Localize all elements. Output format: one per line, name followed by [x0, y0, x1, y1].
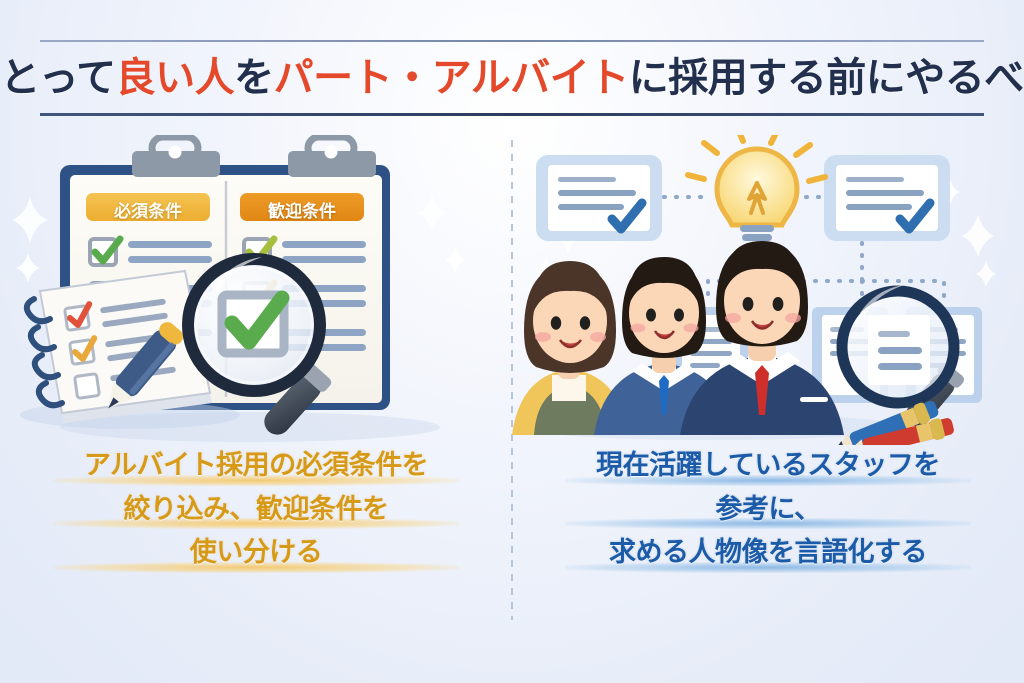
document-card-left	[536, 155, 662, 241]
clipboard-clip-left	[132, 137, 220, 177]
title-segment: 採用する	[668, 58, 826, 98]
tag-welcome-label: 歓迎条件	[240, 197, 364, 222]
staff-persona-illustration	[512, 135, 1024, 445]
title-segment: やるべきこと	[905, 58, 1024, 98]
clipboard-checklist-illustration: 必須条件 歓迎条件	[0, 135, 512, 445]
title-segment: パート・アルバイト	[274, 58, 629, 98]
title-segment: にとって	[0, 58, 116, 98]
title-segment: 前に	[826, 58, 905, 98]
caption-line: 現在活躍しているスタッフを	[526, 448, 1010, 483]
caption-line: 使い分ける	[14, 535, 498, 570]
caption-line: アルバイト採用の必須条件を	[14, 448, 498, 483]
caption-line: 参考に、	[526, 492, 1010, 527]
title-segment: 良い人	[116, 58, 235, 98]
right-caption: 現在活躍しているスタッフを 参考に、 求める人物像を言語化する	[526, 445, 1010, 579]
staff-persona-svg	[512, 135, 1024, 445]
title-segment: を	[234, 58, 274, 98]
document-card-right	[824, 155, 950, 241]
header-rule-top	[40, 40, 984, 42]
lightbulb-icon	[688, 135, 825, 253]
title-segment: に	[629, 58, 669, 98]
caption-line: 求める人物像を言語化する	[526, 535, 1010, 570]
header-rule-bottom	[40, 113, 984, 116]
clipboard-clip-right	[288, 137, 376, 177]
tag-required-label: 必須条件	[86, 197, 210, 222]
caption-line: 絞り込み、歓迎条件を	[14, 492, 498, 527]
right-panel: 現在活躍しているスタッフを 参考に、 求める人物像を言語化する	[512, 125, 1024, 683]
left-caption: アルバイト採用の必須条件を 絞り込み、歓迎条件を 使い分ける	[14, 445, 498, 579]
slide-canvas: 自社 にとって 良い人 を パート・アルバイト に 採用する 前に やるべきこと	[0, 0, 1024, 683]
clipboard-checklist-svg	[0, 135, 512, 445]
page-title: 自社 にとって 良い人 を パート・アルバイト に 採用する 前に やるべきこと	[0, 47, 1024, 109]
left-panel: 必須条件 歓迎条件 アルバイト採用の必須条件を 絞り込み、歓迎条件を 使い分ける	[0, 125, 512, 683]
